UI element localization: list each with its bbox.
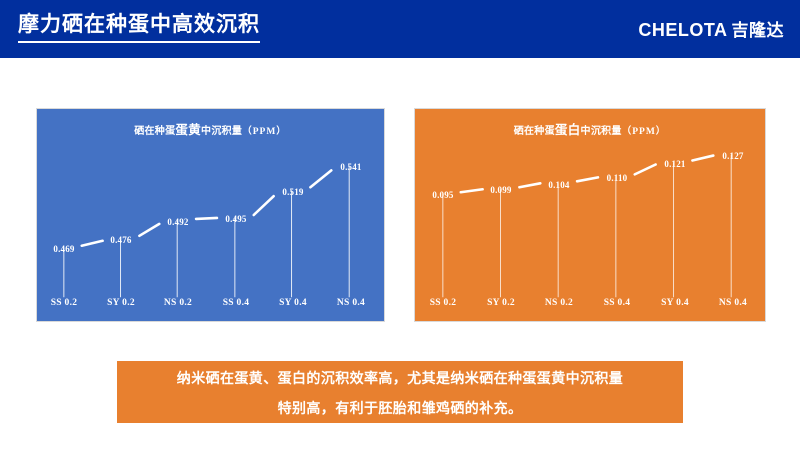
chart-title-albumen: 硒在种蛋蛋白中沉积量（PPM） bbox=[415, 119, 765, 138]
chart-panel-yolk: 硒在种蛋蛋黄中沉积量（PPM） 0.469 0.476 0.492 0.495 … bbox=[36, 108, 385, 322]
conclusion-line-1: 纳米硒在蛋黄、蛋白的沉积效率高，尤其是纳米硒在种蛋蛋黄中沉积量 bbox=[117, 363, 683, 393]
category-label: SS 0.2 bbox=[51, 298, 78, 308]
data-label: 0.519 bbox=[282, 187, 303, 197]
chart-title-yolk: 硒在种蛋蛋黄中沉积量（PPM） bbox=[37, 119, 384, 138]
category-label: SS 0.4 bbox=[604, 298, 631, 308]
chart-title-suffix: 中沉积量 bbox=[201, 126, 242, 137]
category-label: SY 0.4 bbox=[279, 298, 307, 308]
droplines-yolk bbox=[64, 165, 349, 297]
category-label: NS 0.4 bbox=[337, 298, 365, 308]
data-label: 0.469 bbox=[53, 244, 74, 254]
data-label: 0.104 bbox=[548, 180, 569, 190]
data-label: 0.492 bbox=[167, 217, 188, 227]
category-label: NS 0.4 bbox=[719, 298, 747, 308]
data-label: 0.127 bbox=[722, 151, 743, 161]
data-label: 0.476 bbox=[110, 235, 131, 245]
conclusion-box: 纳米硒在蛋黄、蛋白的沉积效率高，尤其是纳米硒在种蛋蛋黄中沉积量 特别高，有利于胚… bbox=[117, 361, 683, 423]
category-label: SS 0.4 bbox=[223, 298, 250, 308]
data-label: 0.541 bbox=[340, 162, 361, 172]
conclusion-line-2: 特别高，有利于胚胎和雏鸡硒的补充。 bbox=[117, 393, 683, 423]
chart-title-emphasis: 蛋白 bbox=[555, 123, 581, 137]
chart-panel-albumen: 硒在种蛋蛋白中沉积量（PPM） 0.095 0.099 0.104 0.110 … bbox=[414, 108, 766, 322]
chart-title-unit: （PPM） bbox=[622, 127, 667, 137]
page-title: 摩力硒在种蛋中高效沉积 bbox=[18, 11, 260, 43]
chart-title-emphasis: 蛋黄 bbox=[175, 123, 201, 137]
category-label: NS 0.2 bbox=[545, 298, 573, 308]
data-label: 0.121 bbox=[664, 159, 685, 169]
category-label: NS 0.2 bbox=[164, 298, 192, 308]
data-label: 0.110 bbox=[607, 173, 628, 183]
chart-title-unit: （PPM） bbox=[242, 127, 287, 137]
droplines-albumen bbox=[443, 155, 731, 298]
category-label: SY 0.2 bbox=[487, 298, 515, 308]
brand-logo: CHELOTA吉隆达 bbox=[638, 16, 784, 41]
chart-title-prefix: 硒在种蛋 bbox=[514, 126, 555, 137]
brand-name-en: CHELOTA bbox=[638, 20, 727, 40]
chart-svg-yolk bbox=[37, 109, 384, 321]
chart-svg-albumen bbox=[415, 109, 765, 321]
data-label: 0.095 bbox=[432, 190, 453, 200]
chart-title-prefix: 硒在种蛋 bbox=[134, 126, 175, 137]
brand-name-cn: 吉隆达 bbox=[732, 21, 785, 40]
category-label: SY 0.2 bbox=[107, 298, 135, 308]
chart-title-suffix: 中沉积量 bbox=[581, 126, 622, 137]
category-label: SS 0.2 bbox=[430, 298, 457, 308]
data-label: 0.099 bbox=[490, 185, 511, 195]
category-label: SY 0.4 bbox=[661, 298, 689, 308]
chart-plot-yolk bbox=[37, 109, 384, 321]
chart-plot-albumen bbox=[415, 109, 765, 321]
data-label: 0.495 bbox=[225, 214, 246, 224]
page-header: 摩力硒在种蛋中高效沉积 CHELOTA吉隆达 bbox=[0, 0, 800, 58]
